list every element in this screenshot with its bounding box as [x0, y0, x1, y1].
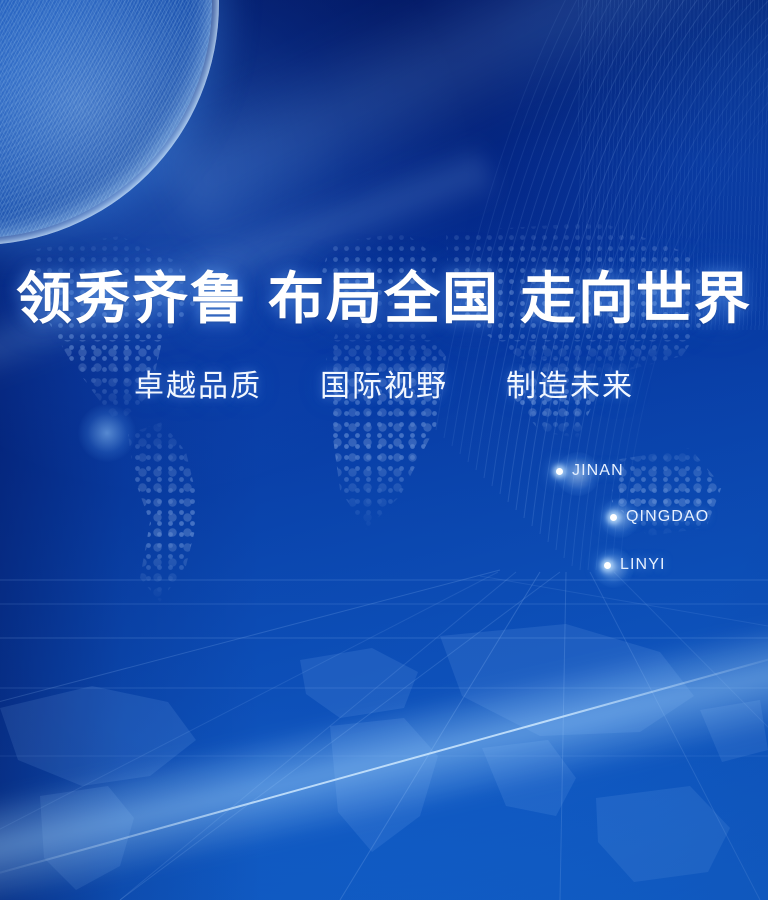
subline-part-1: 卓越品质 [134, 370, 262, 403]
page-subtitle: 卓越品质国际视野制造未来 [0, 368, 768, 406]
subline-part-2: 国际视野 [320, 370, 448, 403]
hero-banner: 领秀齐鲁布局全国走向世界 卓越品质国际视野制造未来 JINAN QINGDAO … [0, 0, 768, 900]
city-dot-icon [610, 514, 617, 521]
city-label-qingdao: QINGDAO [626, 508, 709, 526]
subline-part-3: 制造未来 [506, 370, 634, 403]
city-label-linyi: LINYI [620, 556, 666, 574]
city-dot-icon [556, 468, 563, 475]
map-marker-linyi[interactable]: LINYI [604, 556, 666, 574]
map-marker-qingdao[interactable]: QINGDAO [610, 508, 709, 526]
map-marker-jinan[interactable]: JINAN [556, 462, 624, 480]
headline-part-1: 领秀齐鲁 [16, 269, 248, 331]
city-dot-icon [604, 562, 611, 569]
headline-part-2: 布局全国 [268, 269, 500, 331]
city-label-jinan: JINAN [572, 462, 624, 480]
headline-part-3: 走向世界 [520, 269, 752, 331]
page-title: 领秀齐鲁布局全国走向世界 [0, 268, 768, 332]
